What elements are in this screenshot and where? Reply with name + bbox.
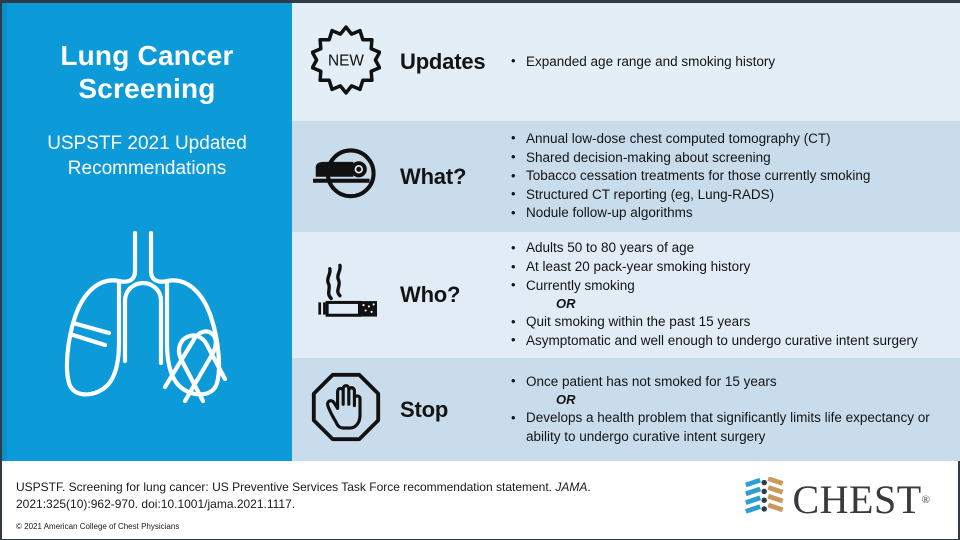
row-who-label: Who? xyxy=(400,282,510,308)
list-item: Currently smoking xyxy=(510,277,950,296)
or-separator: OR xyxy=(510,391,950,409)
list-item: Annual low-dose chest computed tomograph… xyxy=(510,130,950,149)
list-item: Structured CT reporting (eg, Lung-RADS) xyxy=(510,186,950,205)
ct-scanner-icon xyxy=(309,141,383,212)
infographic-root: Lung Cancer Screening USPSTF 2021 Update… xyxy=(0,0,960,540)
page-title-line-2: Screening xyxy=(2,72,292,105)
row-what-content: Annual low-dose chest computed tomograph… xyxy=(510,130,960,223)
row-stop-bullet-list: Once patient has not smoked for 15 years… xyxy=(510,373,950,447)
row-stop-content: Once patient has not smoked for 15 years… xyxy=(510,373,960,447)
list-item: Shared decision-making about screening xyxy=(510,149,950,168)
title-panel: Lung Cancer Screening USPSTF 2021 Update… xyxy=(2,3,292,461)
list-item: Once patient has not smoked for 15 years xyxy=(510,373,950,392)
recommendation-rows: NEW Updates Expanded age range and smoki… xyxy=(292,3,960,461)
title-block: Lung Cancer Screening USPSTF 2021 Update… xyxy=(2,39,292,181)
or-separator: OR xyxy=(510,295,950,313)
row-updates-icon-cell: NEW xyxy=(292,25,400,100)
list-item: Develops a health problem that significa… xyxy=(510,409,950,446)
row-updates-bullet-list: Expanded age range and smoking history xyxy=(510,53,950,72)
page-title: Lung Cancer Screening xyxy=(2,39,292,105)
page-subtitle-line-2: Recommendations xyxy=(2,157,292,182)
list-item: Tobacco cessation treatments for those c… xyxy=(510,167,950,186)
page-subtitle: USPSTF 2021 Updated Recommendations xyxy=(2,105,292,181)
list-item: Asymptomatic and well enough to undergo … xyxy=(510,332,950,351)
chest-logo-wordmark: CHEST xyxy=(792,480,921,520)
row-what-label: What? xyxy=(400,164,510,190)
chest-logo: CHEST ® xyxy=(744,477,930,522)
row-stop: Stop Once patient has not smoked for 15 … xyxy=(292,358,960,461)
list-item: At least 20 pack-year smoking history xyxy=(510,258,950,277)
new-starburst-icon-text: NEW xyxy=(328,52,364,69)
copyright-notice: © 2021 American College of Chest Physici… xyxy=(16,522,179,531)
lungs-illustration xyxy=(47,231,247,436)
row-updates: NEW Updates Expanded age range and smoki… xyxy=(292,3,960,121)
citation-journal: JAMA xyxy=(555,480,587,494)
stop-hand-icon xyxy=(311,372,381,447)
row-what-bullet-list: Annual low-dose chest computed tomograph… xyxy=(510,130,950,223)
citation: USPSTF. Screening for lung cancer: US Pr… xyxy=(16,479,616,514)
new-starburst-icon: NEW xyxy=(311,25,381,100)
row-what: What? Annual low-dose chest computed tom… xyxy=(292,121,960,232)
row-what-icon-cell xyxy=(292,141,400,212)
cigarette-icon xyxy=(308,262,384,329)
list-item: Adults 50 to 80 years of age xyxy=(510,239,950,258)
page-title-line-1: Lung Cancer xyxy=(2,39,292,72)
row-updates-label: Updates xyxy=(400,49,510,75)
row-who-content: Adults 50 to 80 years of age At least 20… xyxy=(510,239,960,350)
row-updates-content: Expanded age range and smoking history xyxy=(510,53,960,72)
list-item: Nodule follow-up algorithms xyxy=(510,204,950,223)
row-who-bullet-list: Adults 50 to 80 years of age At least 20… xyxy=(510,239,950,350)
list-item: Expanded age range and smoking history xyxy=(510,53,950,72)
list-item: Quit smoking within the past 15 years xyxy=(510,313,950,332)
row-who-icon-cell xyxy=(292,262,400,329)
page-subtitle-line-1: USPSTF 2021 Updated xyxy=(2,132,292,157)
chest-logo-registered-mark: ® xyxy=(922,494,930,506)
row-stop-icon-cell xyxy=(292,372,400,447)
chest-logo-mark xyxy=(744,477,786,522)
row-stop-label: Stop xyxy=(400,397,510,423)
row-who: Who? Adults 50 to 80 years of age At lea… xyxy=(292,232,960,358)
citation-line-1: USPSTF. Screening for lung cancer: US Pr… xyxy=(16,480,552,494)
